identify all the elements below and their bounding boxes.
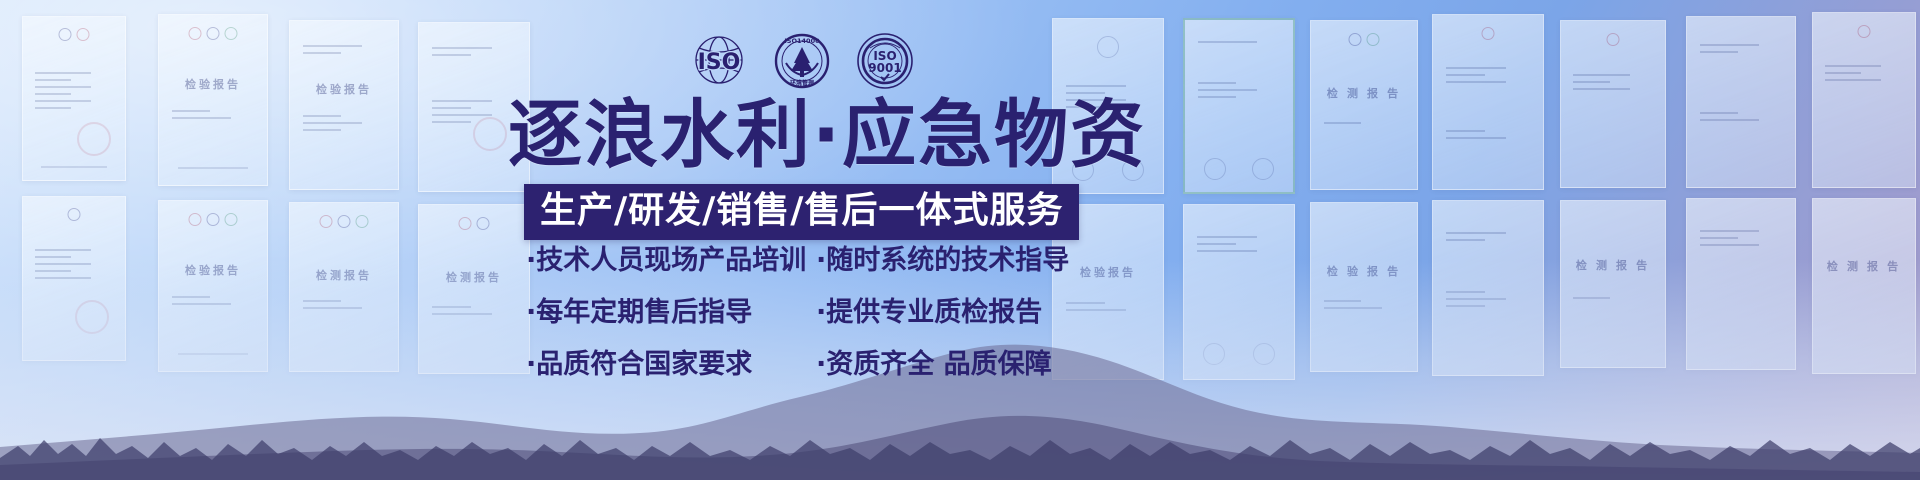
bullet-item: ·提供专业质检报告 [816, 298, 1069, 328]
feature-bullet-list: ·技术人员现场产品培训 ·随时系统的技术指导 ·每年定期售后指导 ·提供专业质检… [526, 246, 1069, 380]
banner-title: 逐浪水利·应急物资 [508, 98, 1146, 172]
promotional-banner: 检验报告 检验报告 检验报告 [0, 0, 1920, 480]
bullet-item: ·品质符合国家要求 [526, 350, 798, 380]
banner-content: 逐浪水利·应急物资 生产/研发/销售/售后一体式服务 ·技术人员现场产品培训 ·… [0, 0, 1920, 480]
bullet-item: ·技术人员现场产品培训 [526, 246, 798, 276]
bullet-item: ·每年定期售后指导 [526, 298, 798, 328]
bullet-item: ·资质齐全 品质保障 [816, 350, 1069, 380]
bullet-item: ·随时系统的技术指导 [816, 246, 1069, 276]
banner-subtitle-bar: 生产/研发/销售/售后一体式服务 [524, 184, 1079, 240]
